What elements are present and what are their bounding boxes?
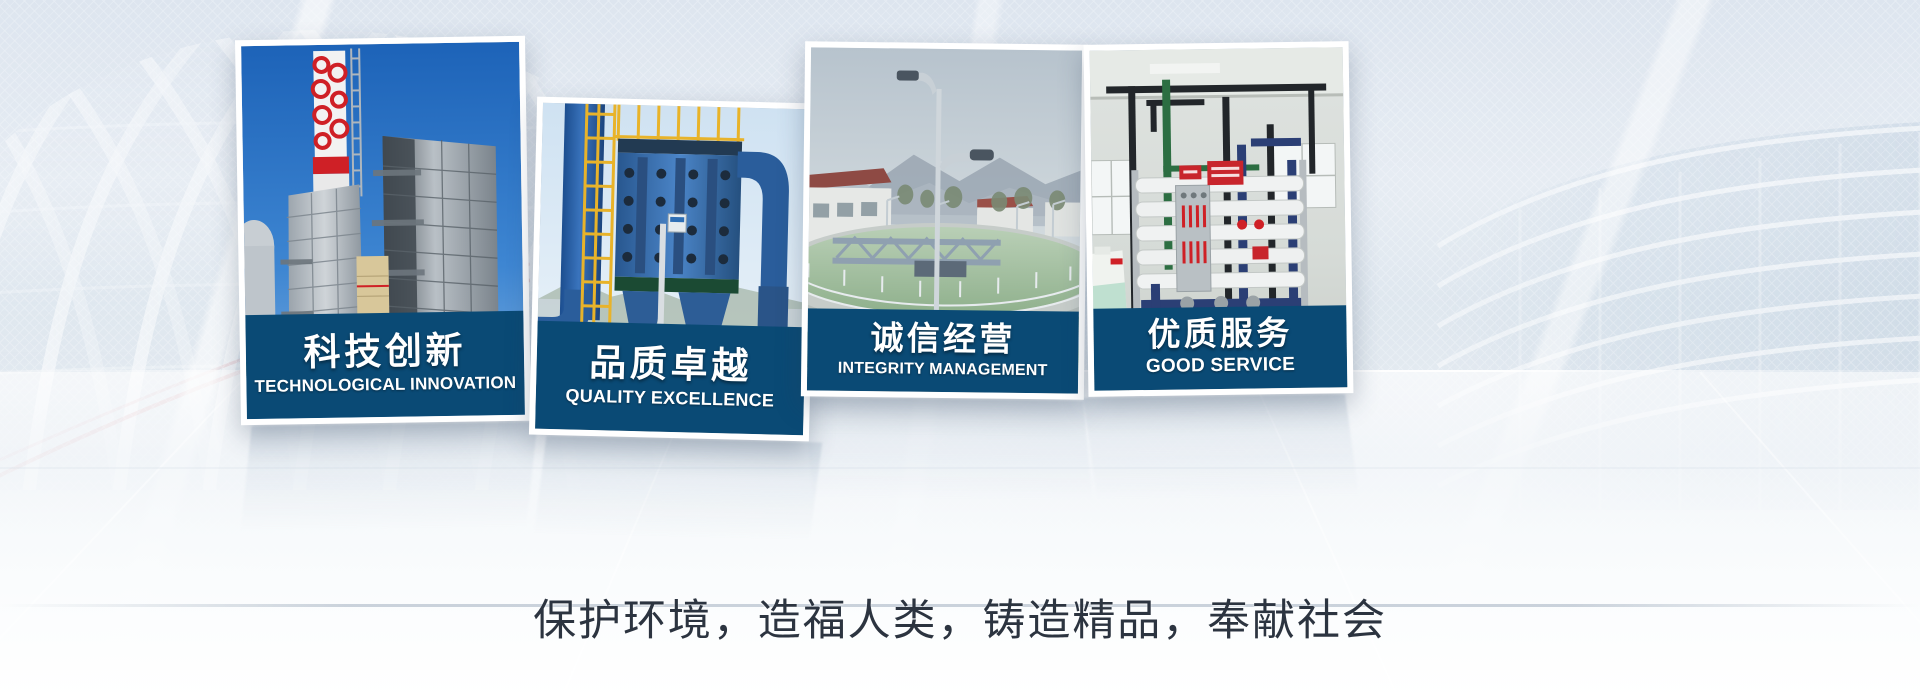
- card-caption: 品质卓越 QUALITY EXCELLENCE: [535, 321, 806, 436]
- card-inner: 优质服务 GOOD SERVICE: [1090, 47, 1348, 390]
- card-inner: 品质卓越 QUALITY EXCELLENCE: [535, 103, 811, 435]
- card-title-en: QUALITY EXCELLENCE: [565, 386, 774, 411]
- card-inner: 诚信经营 INTEGRITY MANAGEMENT: [807, 47, 1082, 393]
- card-good-service[interactable]: 优质服务 GOOD SERVICE: [1084, 41, 1354, 397]
- card-inner: 科技创新 TECHNOLOGICAL INNOVATION: [241, 42, 525, 419]
- banner-tagline: 保护环境，造福人类，铸造精品，奉献社会: [0, 586, 1920, 648]
- card-technological-innovation[interactable]: 科技创新 TECHNOLOGICAL INNOVATION: [235, 36, 531, 426]
- card-quality-excellence[interactable]: 品质卓越 QUALITY EXCELLENCE: [529, 97, 817, 442]
- card-title-cn: 优质服务: [1147, 316, 1293, 353]
- card-title-cn: 品质卓越: [589, 344, 753, 387]
- banner-stage: 科技创新 TECHNOLOGICAL INNOVATION: [0, 0, 1920, 700]
- card-caption: 优质服务 GOOD SERVICE: [1093, 305, 1347, 391]
- card-title-en: TECHNOLOGICAL INNOVATION: [254, 374, 516, 397]
- card-title-cn: 科技创新: [303, 332, 466, 373]
- card-caption: 诚信经营 INTEGRITY MANAGEMENT: [807, 308, 1079, 393]
- card-integrity-management[interactable]: 诚信经营 INTEGRITY MANAGEMENT: [801, 41, 1088, 399]
- card-title-cn: 诚信经营: [870, 321, 1016, 357]
- card-title-en: GOOD SERVICE: [1146, 355, 1295, 378]
- card-title-en: INTEGRITY MANAGEMENT: [838, 359, 1048, 379]
- card-caption: 科技创新 TECHNOLOGICAL INNOVATION: [245, 311, 525, 419]
